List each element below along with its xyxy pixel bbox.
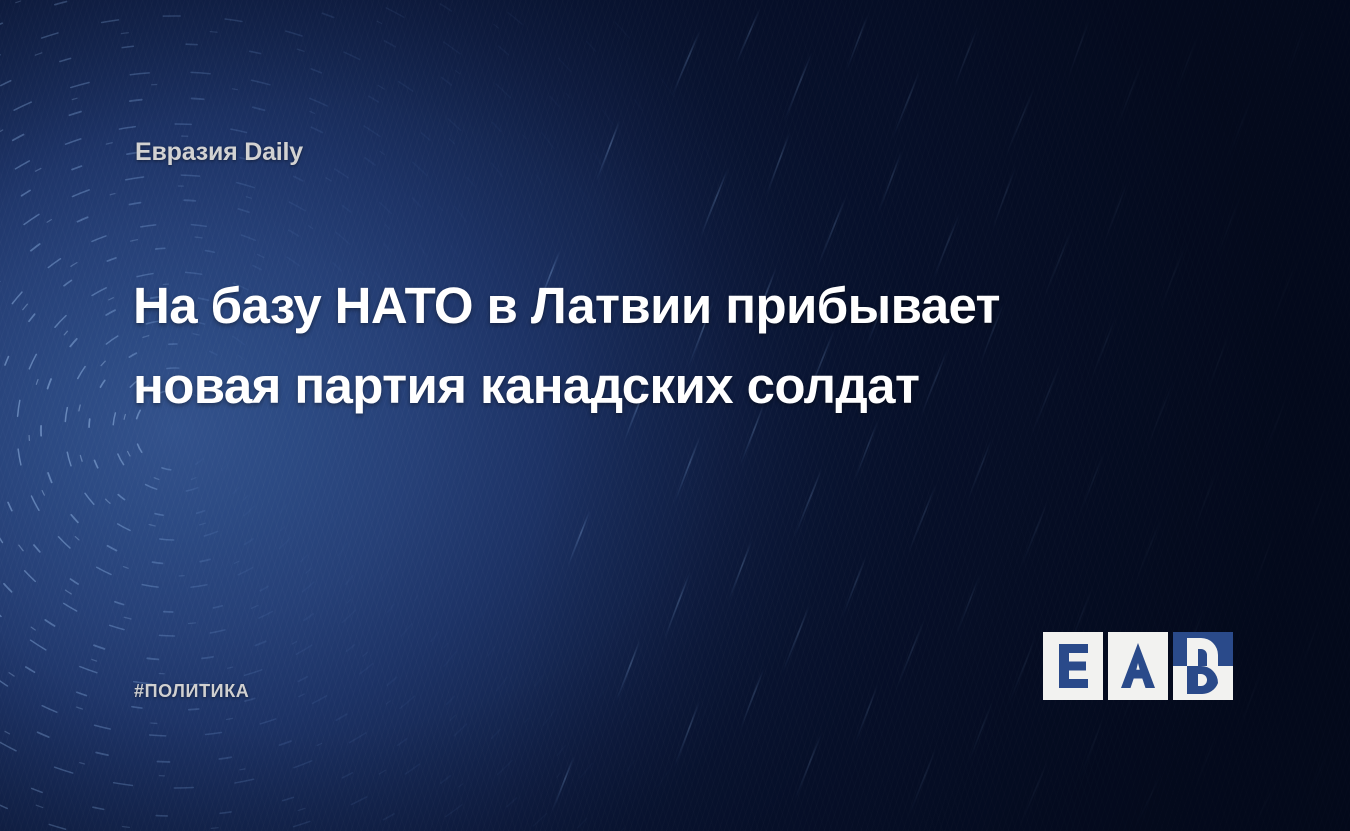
category-tag[interactable]: #ПОЛИТИКА bbox=[134, 681, 249, 702]
brand-title: Евразия Daily bbox=[135, 138, 303, 167]
letter-d-split-icon bbox=[1173, 632, 1233, 700]
ead-logo[interactable] bbox=[1043, 632, 1233, 700]
news-card: Евразия Daily На базу НАТО в Латвии приб… bbox=[0, 0, 1350, 831]
logo-tile-d bbox=[1173, 632, 1233, 700]
headline-line-2: новая партия канадских солдат bbox=[133, 346, 1093, 426]
letter-a-icon bbox=[1108, 632, 1168, 700]
card-content: Евразия Daily На базу НАТО в Латвии приб… bbox=[0, 0, 1350, 831]
logo-tile-e bbox=[1043, 632, 1103, 700]
letter-e-icon bbox=[1043, 632, 1103, 700]
headline-line-1: На базу НАТО в Латвии прибывает bbox=[133, 266, 1093, 346]
page-title: На базу НАТО в Латвии прибывает новая па… bbox=[133, 266, 1093, 426]
logo-tile-a bbox=[1108, 632, 1168, 700]
